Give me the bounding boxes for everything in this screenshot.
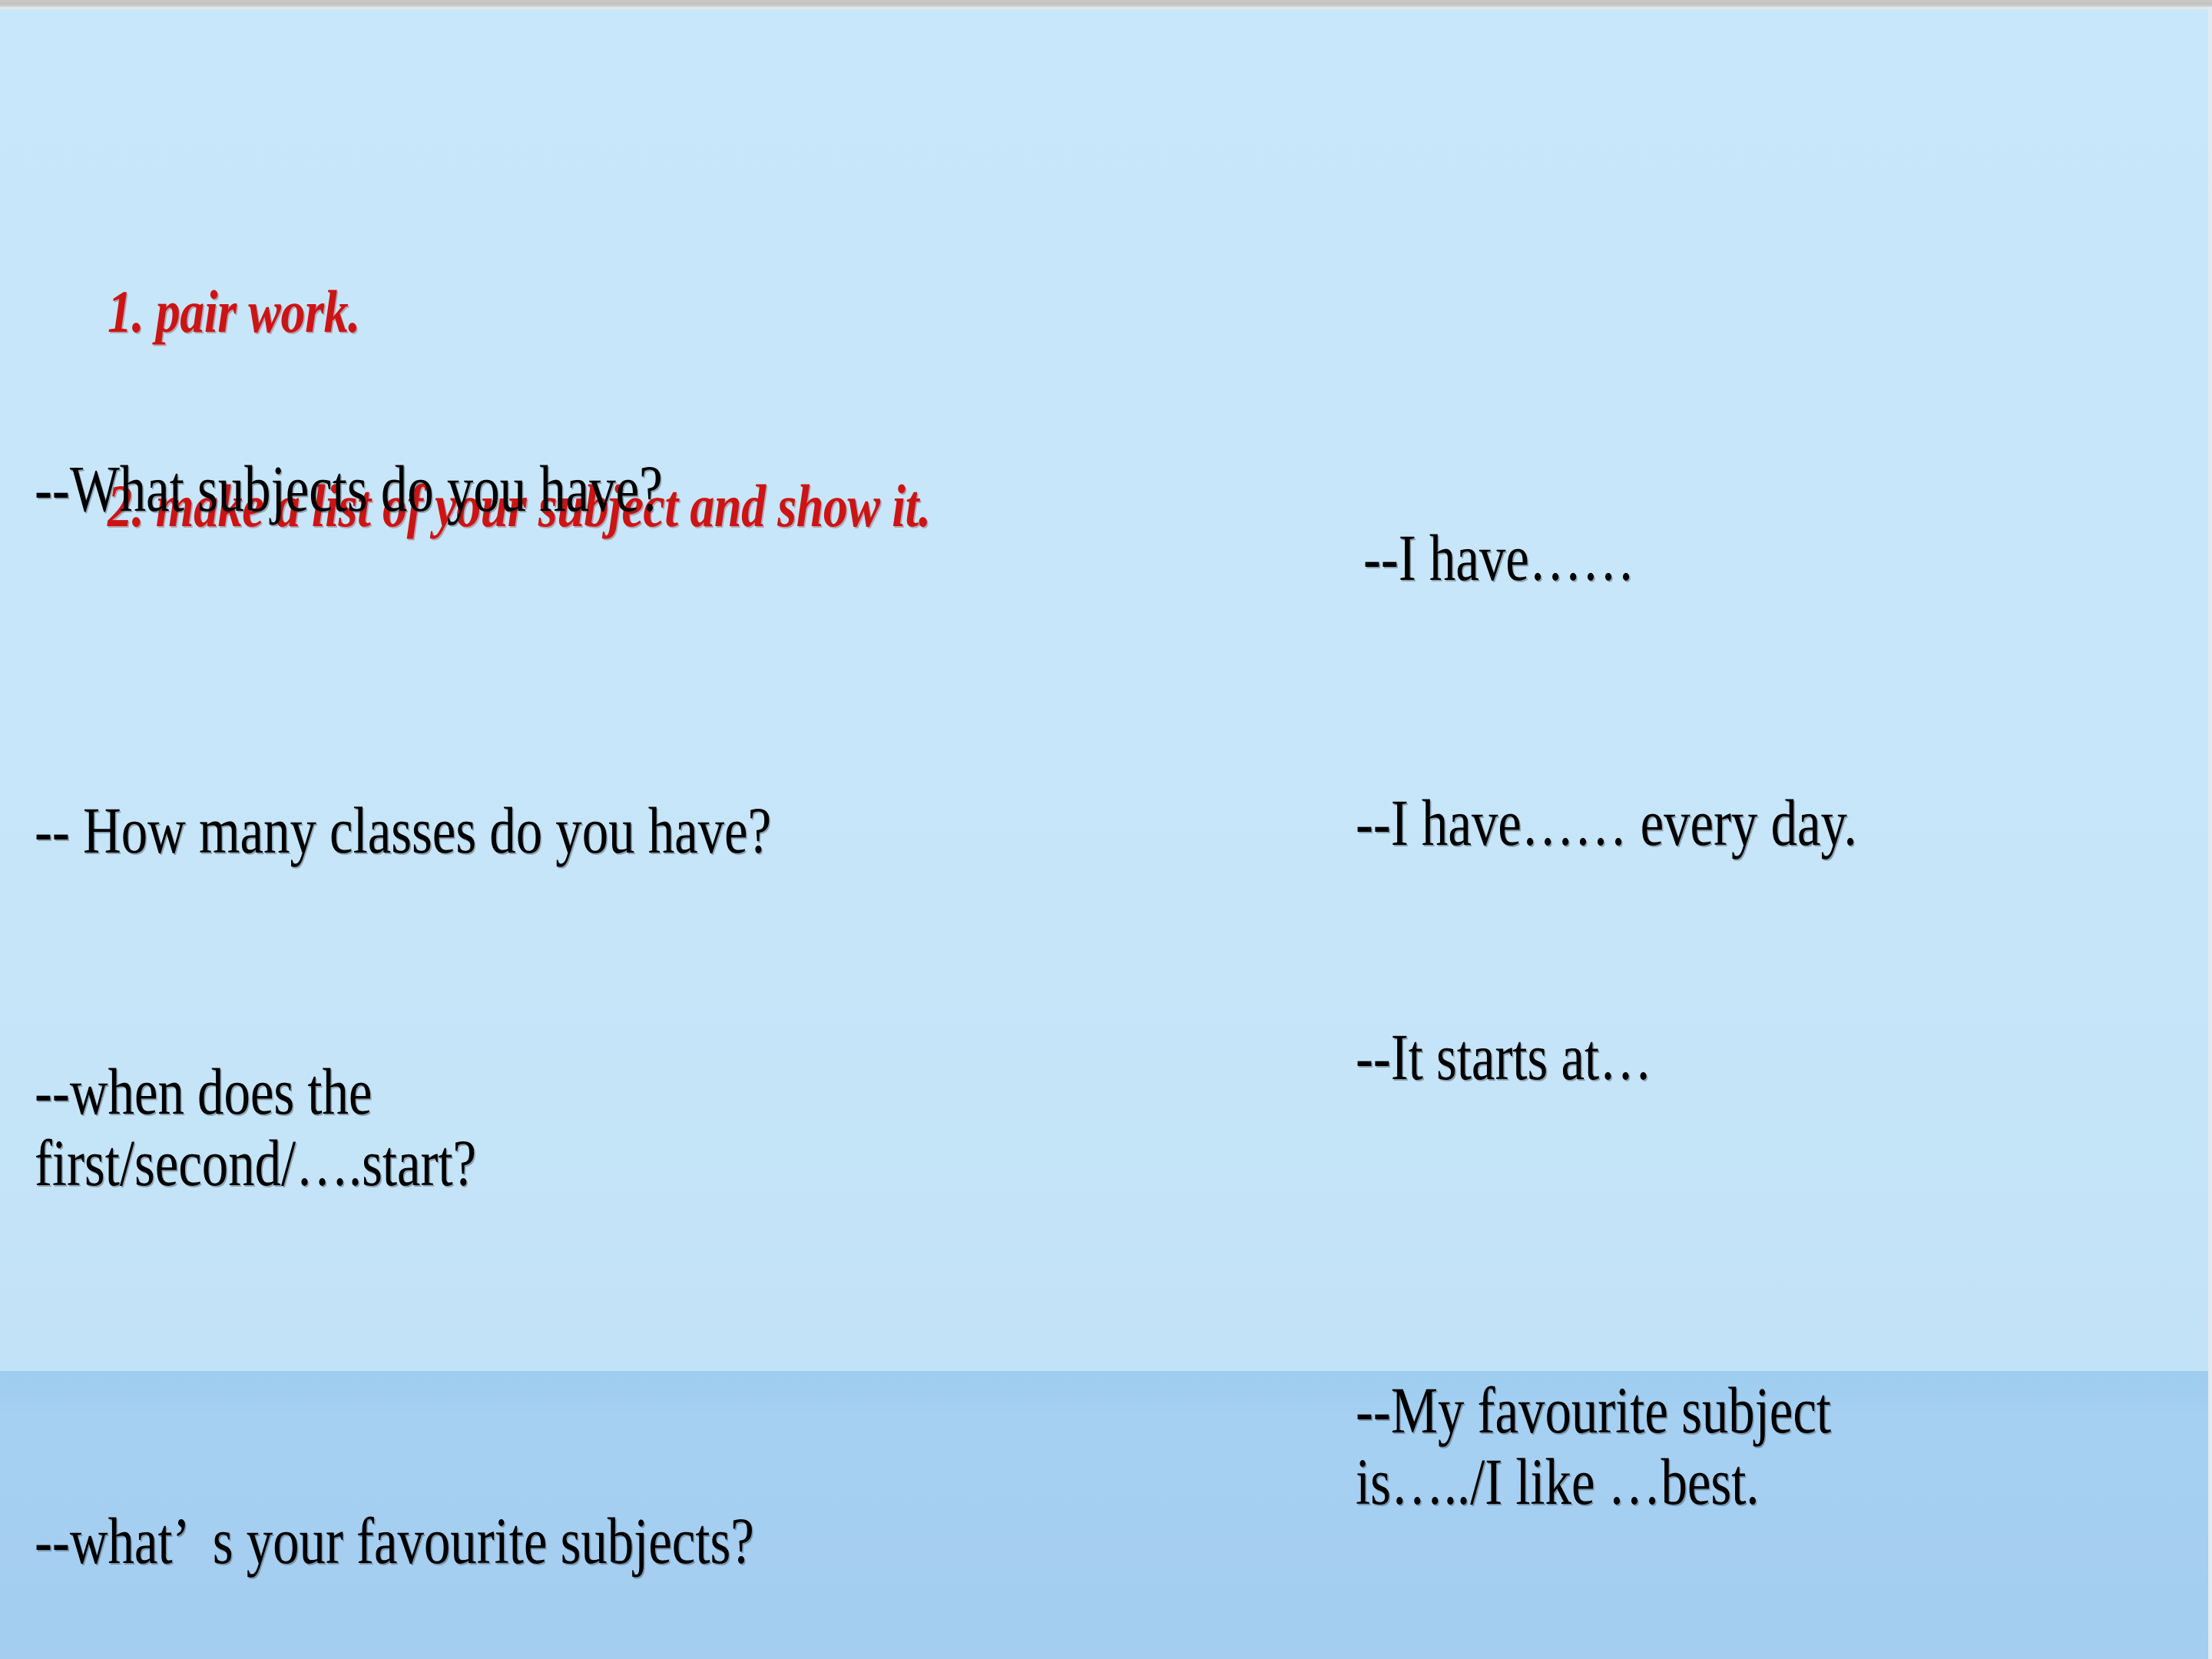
dialogue-question-1: --What subjects do you have?	[35, 453, 663, 525]
dialogue-answer-2: --I have…… every day.	[1356, 787, 1857, 859]
dialogue-answer-4: --My favourite subject is…../I like …bes…	[1356, 1375, 1831, 1518]
window-top-strip	[0, 0, 2212, 7]
slide-right-edge	[2208, 7, 2212, 1659]
dialogue-question-2: -- How many classes do you have?	[35, 795, 771, 866]
dialogue-question-3: --when does the first/second/….start?	[35, 1056, 476, 1199]
dialogue-question-4: --what’ s your favourite subjects?	[35, 1505, 754, 1577]
slide-canvas: 1. pair work. 2. make a list of your sub…	[0, 0, 2212, 1659]
instruction-line-1: 1. pair work.	[108, 280, 931, 344]
dialogue-answer-3: --It starts at…	[1356, 1022, 1652, 1093]
instructions-block: 1. pair work. 2. make a list of your sub…	[108, 151, 931, 668]
dialogue-answer-1: --I have……	[1363, 522, 1634, 594]
